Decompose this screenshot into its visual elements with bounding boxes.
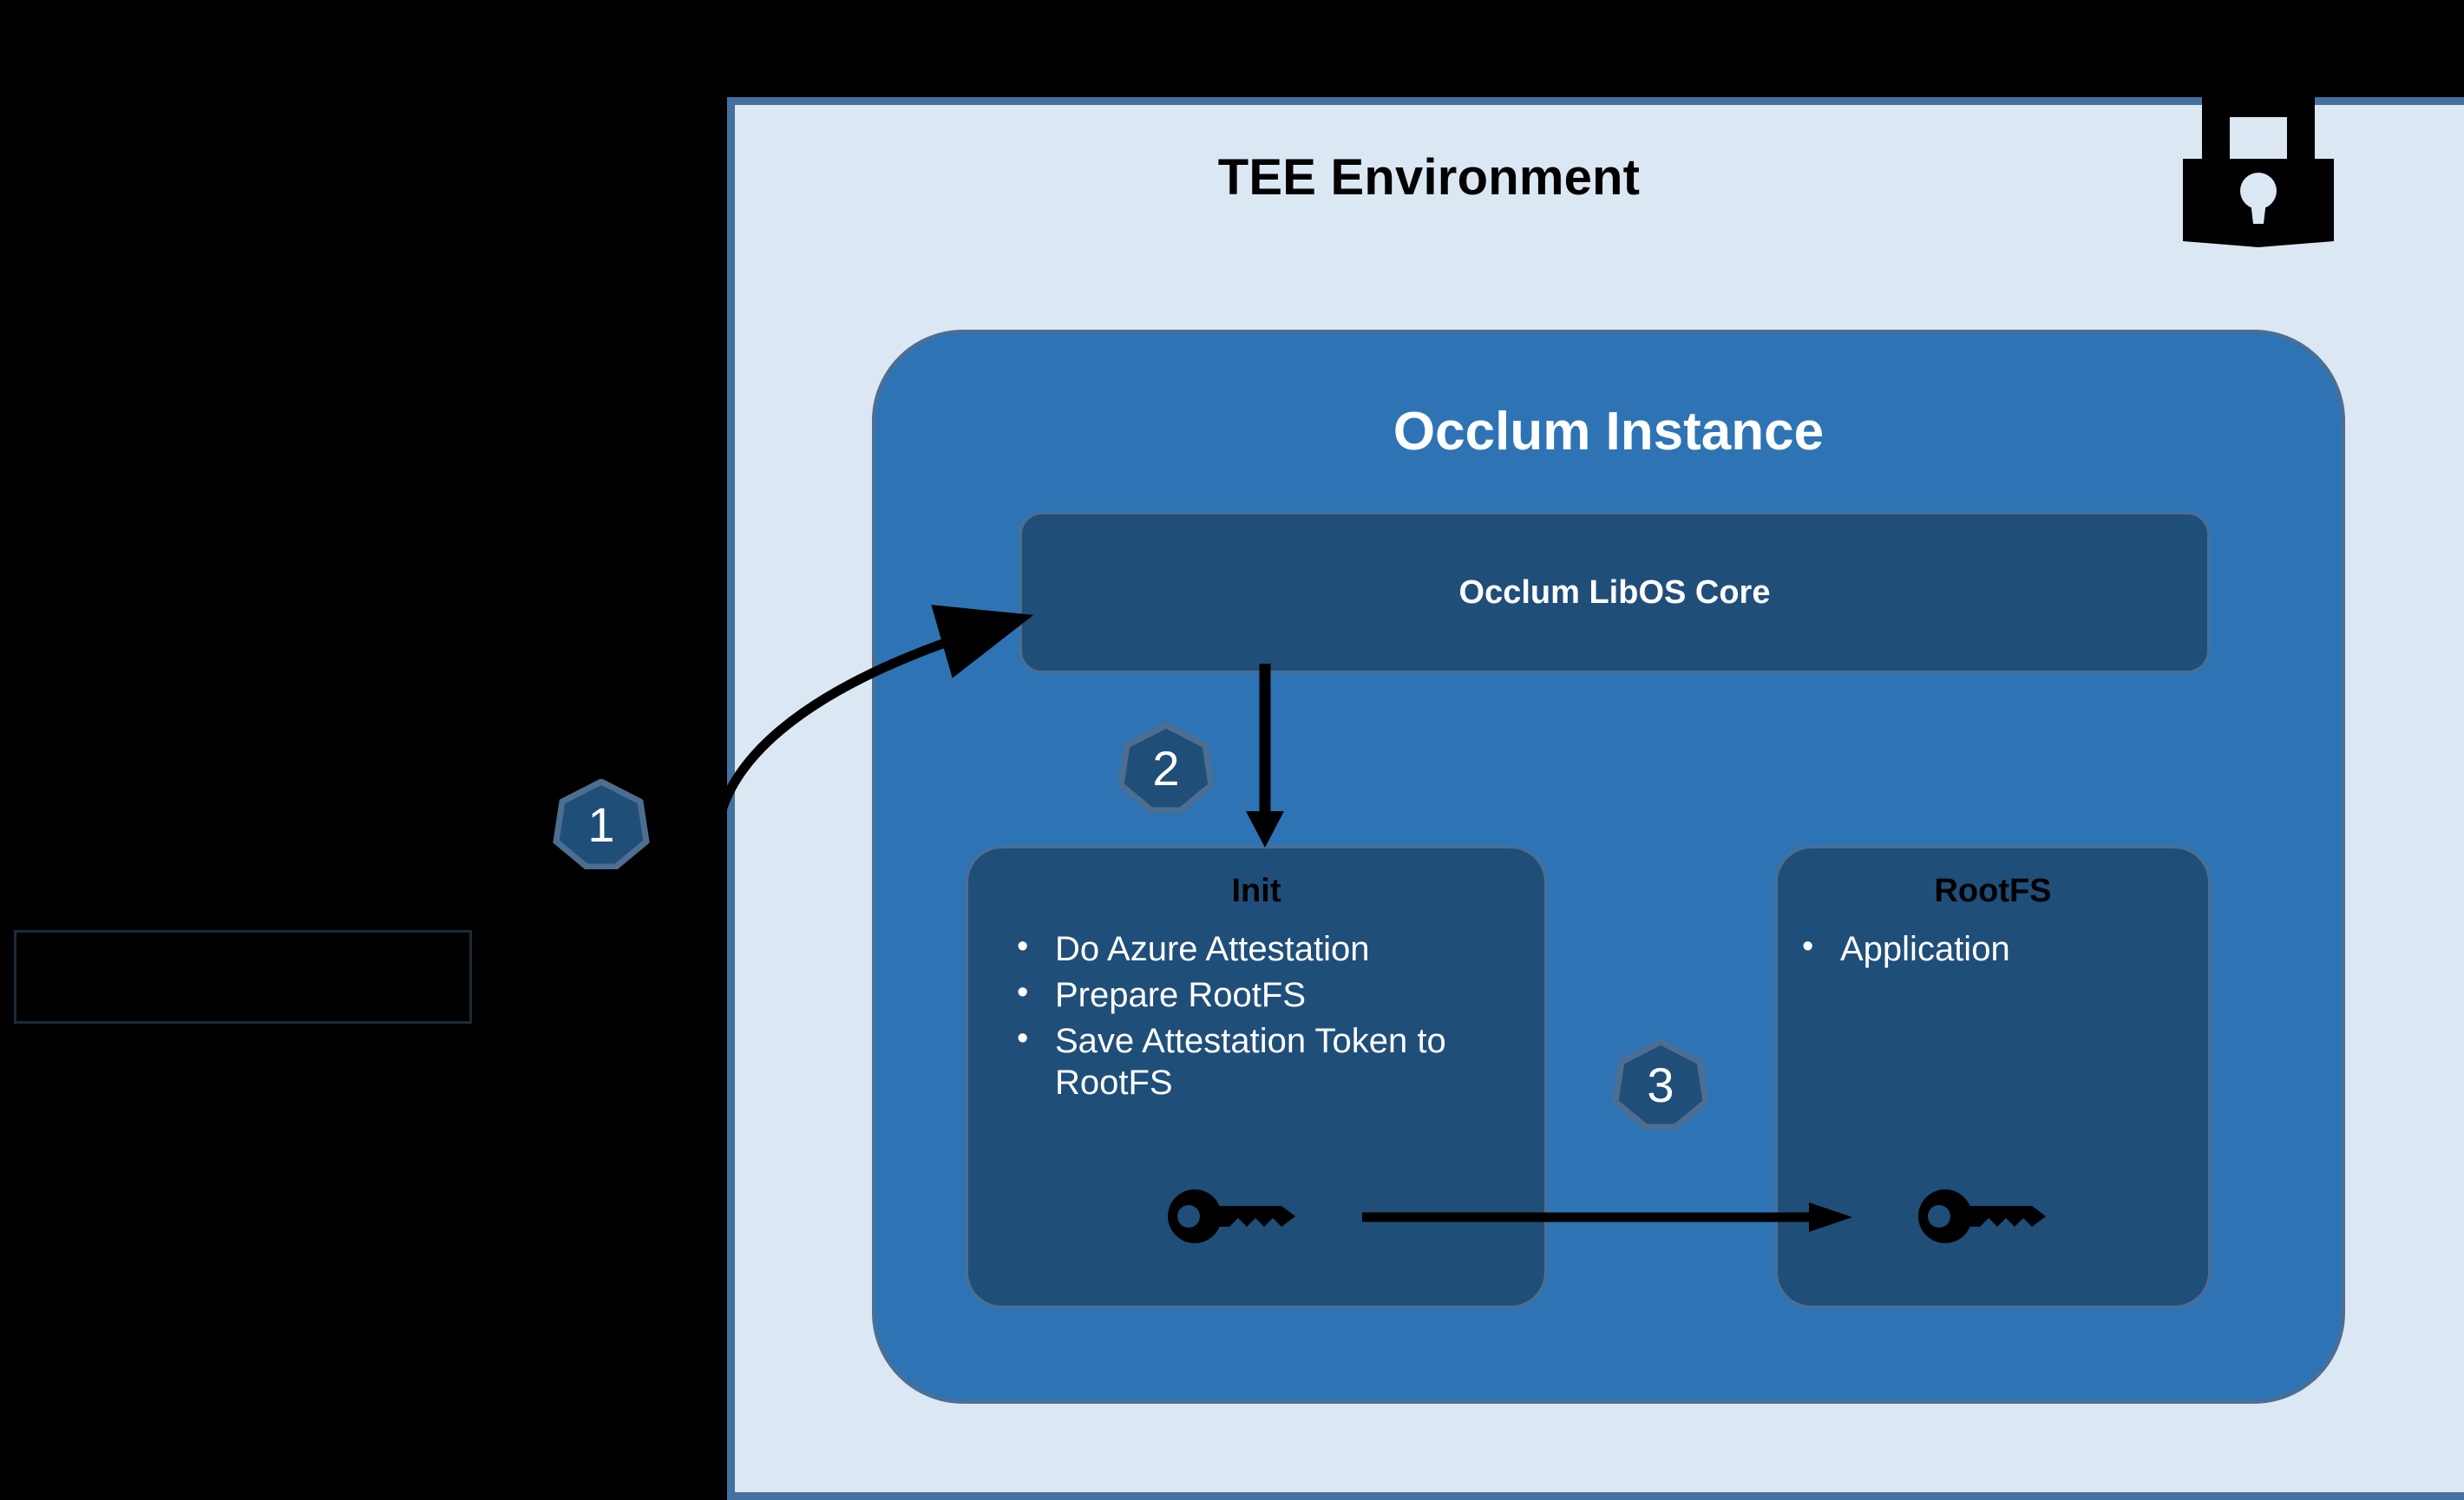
occlum-libos-core-label: Occlum LibOS Core	[1459, 574, 1771, 612]
step-badge-2: 2	[1117, 723, 1215, 813]
curved-arrow-into-libos-core	[685, 555, 1050, 855]
occlum-instance-title: Occlum Instance	[875, 401, 2342, 462]
empty-outlined-rectangle	[14, 930, 472, 1024]
list-item: Prepare RootFS	[1010, 975, 1544, 1016]
rootfs-title: RootFS	[1778, 873, 2208, 910]
key-icon	[1917, 1189, 2056, 1248]
step-badge-1: 1	[553, 779, 650, 869]
step-badge-2-number: 2	[1117, 723, 1215, 813]
step-badge-3-number: 3	[1612, 1039, 1709, 1130]
init-title: Init	[968, 873, 1544, 910]
horizontal-arrow-init-to-rootfs	[1362, 1197, 1857, 1241]
key-icon	[1167, 1189, 1306, 1248]
left-background-region	[0, 0, 727, 1500]
step-badge-3: 3	[1612, 1039, 1709, 1130]
init-bullet-list: Do Azure Attestation Prepare RootFS Save…	[968, 929, 1544, 1104]
step-badge-1-number: 1	[553, 779, 650, 869]
tee-environment-title: TEE Environment	[735, 148, 2123, 206]
padlock-icon	[2167, 82, 2349, 247]
list-item: Do Azure Attestation	[1010, 929, 1544, 970]
rootfs-bullet-list: Application	[1778, 929, 2208, 970]
list-item: Save Attestation Token to RootFS	[1010, 1021, 1544, 1103]
list-item: Application	[1795, 929, 2208, 970]
occlum-libos-core-box[interactable]: Occlum LibOS Core	[1019, 512, 2210, 673]
vertical-arrow-libos-to-init	[1230, 664, 1300, 855]
